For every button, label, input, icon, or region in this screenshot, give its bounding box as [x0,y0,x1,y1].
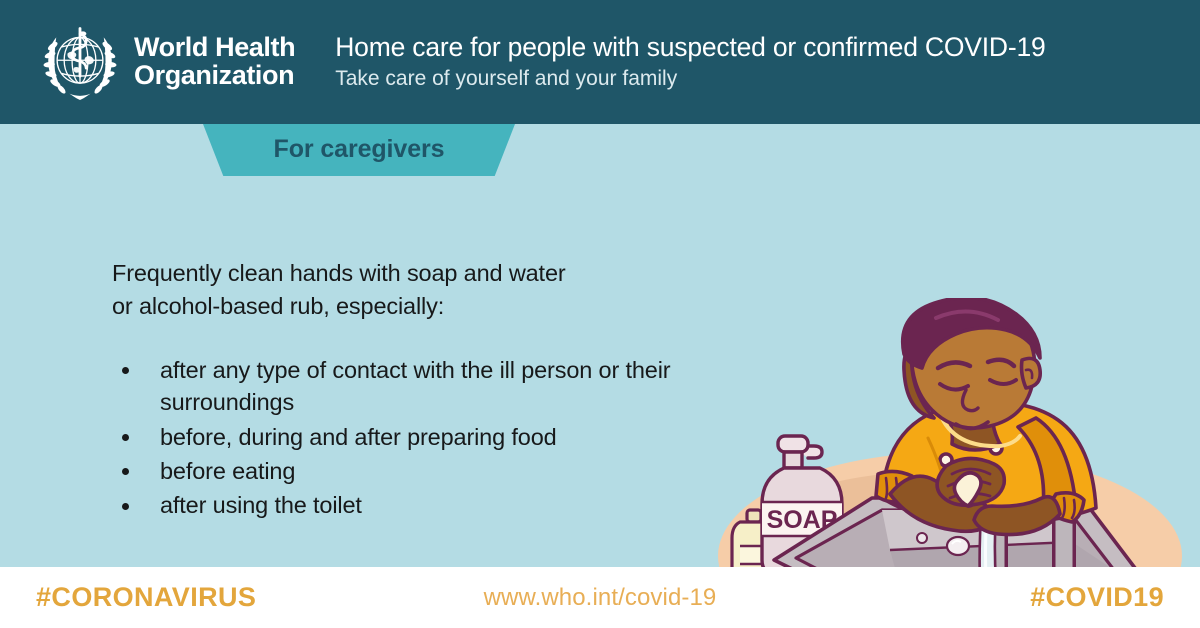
advice-text-block: Frequently clean hands with soap and wat… [112,257,712,524]
advice-bullet-list: after any type of contact with the ill p… [112,354,712,522]
header-title-block: Home care for people with suspected or c… [335,32,1045,93]
lead-line-2: or alcohol-based rub, especially: [112,290,712,323]
who-wordmark-line2: Organization [134,62,295,90]
who-wordmark-line1: World Health [134,34,295,62]
footer-bar: #CORONAVIRUS www.who.int/covid-19 #COVID… [0,567,1200,628]
list-item-label: before eating [160,458,295,484]
bullet-dot-icon [122,367,129,374]
list-item: after using the toilet [112,489,712,521]
hashtag-covid19[interactable]: #COVID19 [1030,582,1164,613]
list-item: before eating [112,455,712,487]
list-item: before, during and after preparing food [112,421,712,453]
list-item-label: after any type of contact with the ill p… [160,357,670,415]
header-bar: World Health Organization Home care for … [0,0,1200,124]
who-logo: World Health Organization [36,18,295,106]
for-caregivers-banner: For caregivers [203,124,515,176]
lead-paragraph: Frequently clean hands with soap and wat… [112,257,712,324]
person-figure [876,298,1096,535]
body-area: For caregivers Frequently clean hands wi… [0,124,1200,567]
hands-washing [937,458,1004,506]
who-covid19-infographic: World Health Organization Home care for … [0,0,1200,628]
for-caregivers-label: For caregivers [274,137,445,164]
who-covid-url[interactable]: www.who.int/covid-19 [0,584,1200,612]
who-wordmark: World Health Organization [134,34,295,89]
list-item-label: after using the toilet [160,492,362,518]
page-title: Home care for people with suspected or c… [335,32,1045,63]
bullet-dot-icon [122,503,129,510]
bullet-dot-icon [122,434,129,441]
lead-line-1: Frequently clean hands with soap and wat… [112,257,712,290]
who-emblem-icon [36,18,124,106]
page-subtitle: Take care of yourself and your family [335,65,1045,92]
bullet-dot-icon [122,468,129,475]
list-item-label: before, during and after preparing food [160,424,557,450]
list-item: after any type of contact with the ill p… [112,354,712,419]
